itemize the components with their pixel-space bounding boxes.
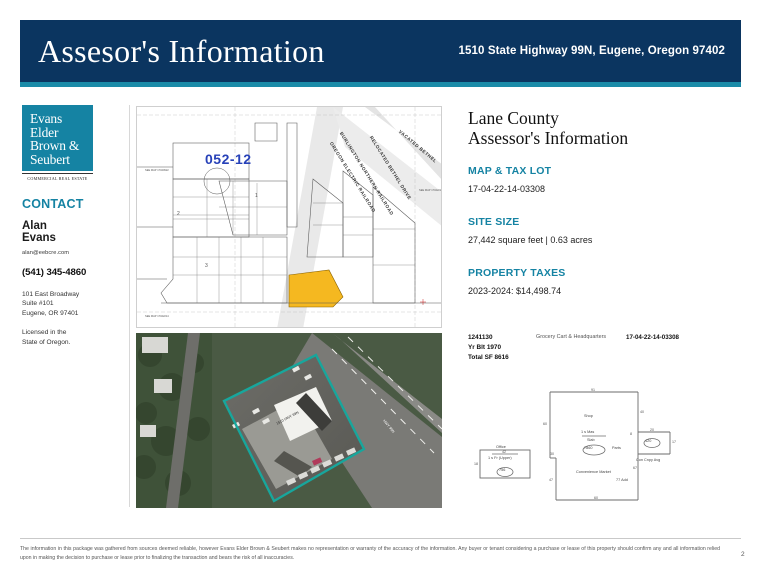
office-address: 101 East Broadway Suite #101 Eugene, OR … [22, 290, 126, 319]
sketch-sublabel-convenience-market: 77 Add [616, 478, 628, 482]
details-title-line-1: Lane County [468, 108, 738, 128]
aerial-photo-svg: 1510 HWY 99N HWY 99N [136, 333, 442, 508]
property-total-sf: Total SF 8616 [468, 354, 509, 361]
sketch-dimension-left-step: 30 [550, 452, 554, 456]
assessor-details-panel: Lane County Assessor's Information MAP &… [468, 108, 738, 296]
sketch-sublabel-shop-foundation: Slab [587, 438, 595, 442]
sketch-dimension-notch: 8 [630, 432, 632, 436]
assessor-information-page: Assesor's Information 1510 State Highway… [0, 0, 761, 588]
logo-tagline: COMMERCIAL REAL ESTATE [22, 173, 93, 181]
logo-line-3: Brown & [30, 139, 86, 153]
contact-heading: CONTACT [22, 197, 126, 211]
header-accent-bar [20, 82, 741, 87]
sketch-label-office: Office [496, 445, 506, 449]
property-description: Grocery Cart & Headquarters [536, 334, 606, 340]
agent-phone[interactable]: (541) 345-4860 [22, 267, 126, 278]
property-address: 1510 State Highway 99N, Eugene, Oregon 9… [459, 45, 741, 57]
footer-disclaimer: The information in this package was gath… [20, 545, 720, 563]
sketch-dimension-canopy-top: 20 [650, 428, 654, 432]
license-line-2: State of Oregon. [22, 338, 126, 348]
logo-line-1: Evans [30, 112, 86, 126]
building-footprint-sketch: Office 1 s Fr (Upper) 756 Shop 1 s Mas S… [470, 388, 715, 523]
property-record-row-3: Total SF 8616 [468, 354, 718, 364]
see-map-note-left: SEE MAP 17040922 [145, 169, 169, 172]
sketch-value-shop: 7860 [584, 446, 592, 450]
parcel-map-number: 052-12 [205, 151, 252, 167]
aerial-photo: 1510 HWY 99N HWY 99N [136, 333, 442, 508]
sketch-value-canopy: 420 [645, 439, 651, 443]
parcel-map-lot-1: 1 [255, 193, 258, 199]
section-heading-map-tax-lot: MAP & TAX LOT [468, 165, 738, 177]
section-value-map-tax-lot: 17-04-22-14-03308 [468, 184, 738, 194]
sketch-label-parts: Parts [612, 446, 621, 450]
agent-last-name: Evans [22, 232, 126, 245]
section-value-property-taxes: 2023-2024: $14,498.74 [468, 286, 738, 296]
property-map-tax-lot: 17-04-22-14-03308 [626, 334, 679, 341]
parcel-map-lot-2: 2 [177, 211, 180, 217]
section-value-site-size: 27,442 square feet | 0.63 acres [468, 235, 738, 245]
details-title-line-2: Assessor's Information [468, 128, 738, 148]
agent-email[interactable]: alan@eebcre.com [22, 250, 126, 256]
sketch-dimension-office-top: 42 [502, 450, 506, 454]
sketch-dimension-canopy-right: 17 [672, 440, 676, 444]
sketch-sublabel-office: 1 s Fr (Upper) [488, 456, 512, 460]
footer-divider [20, 538, 741, 539]
sketch-dimension-left-lower: 47 [549, 478, 553, 482]
see-map-note-bottom: SEE MAP 17042214 [145, 315, 169, 318]
agent-name: Alan Evans [22, 220, 126, 245]
sketch-dimension-office-left: 18 [474, 462, 478, 466]
license-line-1: Licensed in the [22, 328, 126, 338]
parcel-map-image: 052-12 BURLINGTON NORTHERN RAILROAD OREG… [136, 106, 442, 328]
page-number: 2 [741, 551, 745, 558]
see-map-note-right: SEE MAP 17042223 [419, 189, 442, 192]
parcel-map-svg [137, 107, 442, 328]
office-address-line-3: Eugene, OR 97401 [22, 309, 126, 319]
section-heading-property-taxes: PROPERTY TAXES [468, 267, 738, 279]
property-record-row-2: Yr Blt 1970 [468, 344, 718, 354]
office-address-line-2: Suite #101 [22, 299, 126, 309]
sketch-value-office: 756 [499, 468, 505, 472]
sidebar-divider [129, 105, 130, 507]
property-year-built: Yr Blt 1970 [468, 344, 501, 351]
property-account-number: 1241130 [468, 334, 493, 341]
parcel-map-lot-3: 3 [205, 263, 208, 269]
office-address-line-1: 101 East Broadway [22, 290, 126, 300]
sketch-dimension-left-upper: 60 [543, 422, 547, 426]
sketch-dimension-right-upper: 40 [640, 410, 644, 414]
company-logo: Evans Elder Brown & Seubert [22, 105, 93, 171]
logo-line-2: Elder [30, 126, 86, 140]
property-record-card: 1241130 Grocery Cart & Headquarters 17-0… [468, 334, 718, 364]
sketch-sublabel-shop-construction: 1 s Mas [581, 430, 594, 434]
sketch-label-shop: Shop [584, 414, 593, 418]
property-record-row-1: 1241130 Grocery Cart & Headquarters 17-0… [468, 334, 718, 344]
sketch-dimension-right-lower: 67 [633, 466, 637, 470]
sketch-dimension-top: 91 [591, 388, 595, 392]
sketch-label-canopy: Con Cnpy Avg [636, 458, 660, 462]
logo-line-4: Seubert [30, 153, 86, 167]
page-header: Assesor's Information 1510 State Highway… [20, 20, 741, 82]
section-heading-site-size: SITE SIZE [468, 216, 738, 228]
sketch-dimension-bottom: 60 [594, 496, 598, 500]
agent-first-name: Alan [22, 220, 126, 233]
license-note: Licensed in the State of Oregon. [22, 328, 126, 347]
page-title: Assesor's Information [20, 33, 325, 70]
sidebar: Evans Elder Brown & Seubert COMMERCIAL R… [22, 105, 126, 347]
sketch-label-convenience-market: Convenience Market [576, 470, 611, 474]
